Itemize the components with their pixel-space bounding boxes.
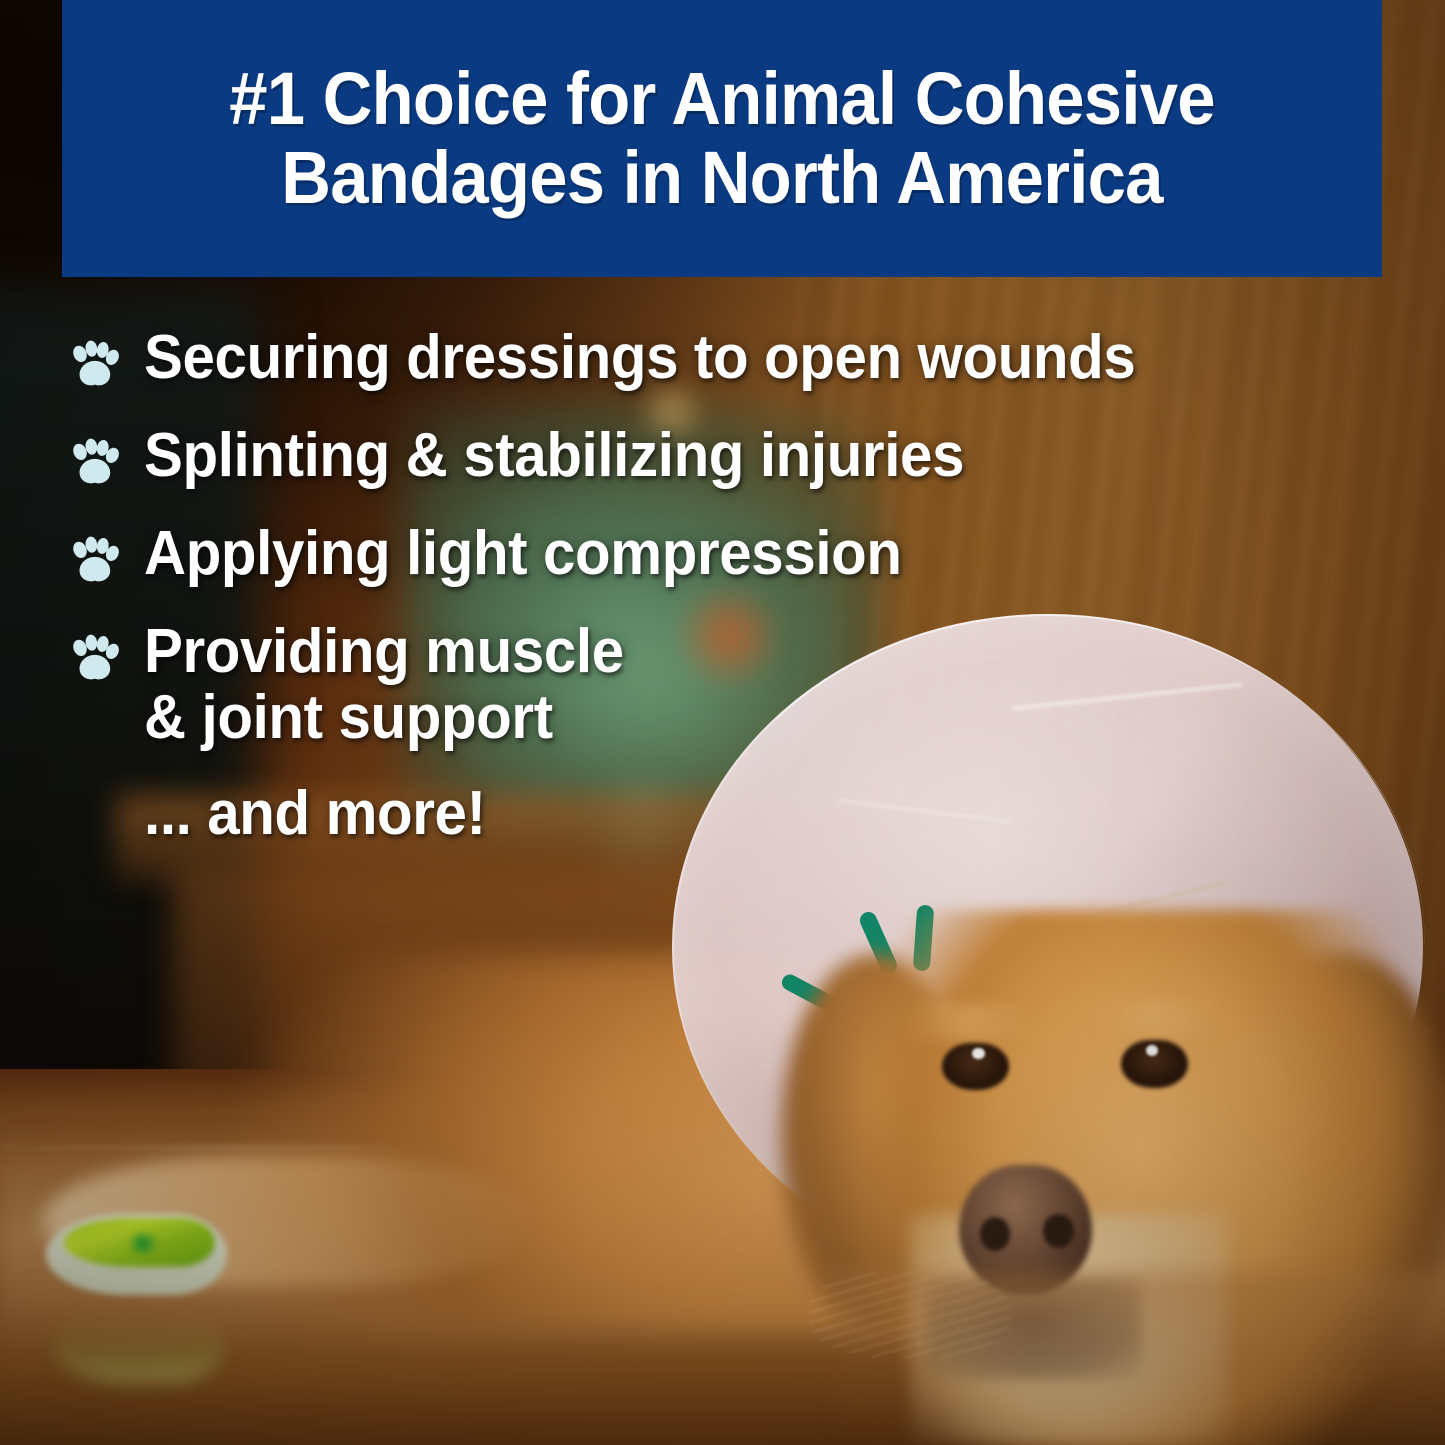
list-item-label: Applying light compression — [144, 521, 902, 587]
dog-head-floor-reflection — [838, 1272, 1445, 1445]
list-item: Applying light compression — [66, 521, 1406, 591]
dog-brow-left — [903, 1004, 1033, 1039]
headline-text: #1 Choice for Animal Cohesive Bandages i… — [108, 60, 1336, 217]
bandaged-paw-pattern-dot — [124, 1233, 162, 1255]
promotional-graphic: #1 Choice for Animal Cohesive Bandages i… — [0, 0, 1445, 1445]
paw-print-icon — [66, 339, 122, 395]
dog-brow-right — [1091, 1000, 1221, 1035]
list-item: Securing dressings to open wounds — [66, 325, 1406, 395]
benefits-list: Securing dressings to open wounds Splint… — [66, 325, 1406, 849]
paw-print-icon — [66, 535, 122, 591]
list-item: Providing muscle & joint support — [66, 619, 1406, 750]
dog-nostril-left — [980, 1217, 1010, 1252]
dog-nostril-right — [1043, 1214, 1073, 1249]
and-more-label: ... and more! — [144, 778, 1330, 849]
paw-print-icon — [66, 437, 122, 493]
list-item-label: Securing dressings to open wounds — [144, 325, 1135, 391]
headline-banner: #1 Choice for Animal Cohesive Bandages i… — [62, 0, 1382, 277]
bandaged-paw-reflection — [52, 1306, 225, 1384]
list-item: Splinting & stabilizing injuries — [66, 423, 1406, 493]
paw-print-icon — [66, 633, 122, 689]
list-item-label: Providing muscle & joint support — [144, 619, 624, 750]
list-item-label: Splinting & stabilizing injuries — [144, 423, 964, 489]
dog-eye-glint-left — [972, 1048, 984, 1060]
